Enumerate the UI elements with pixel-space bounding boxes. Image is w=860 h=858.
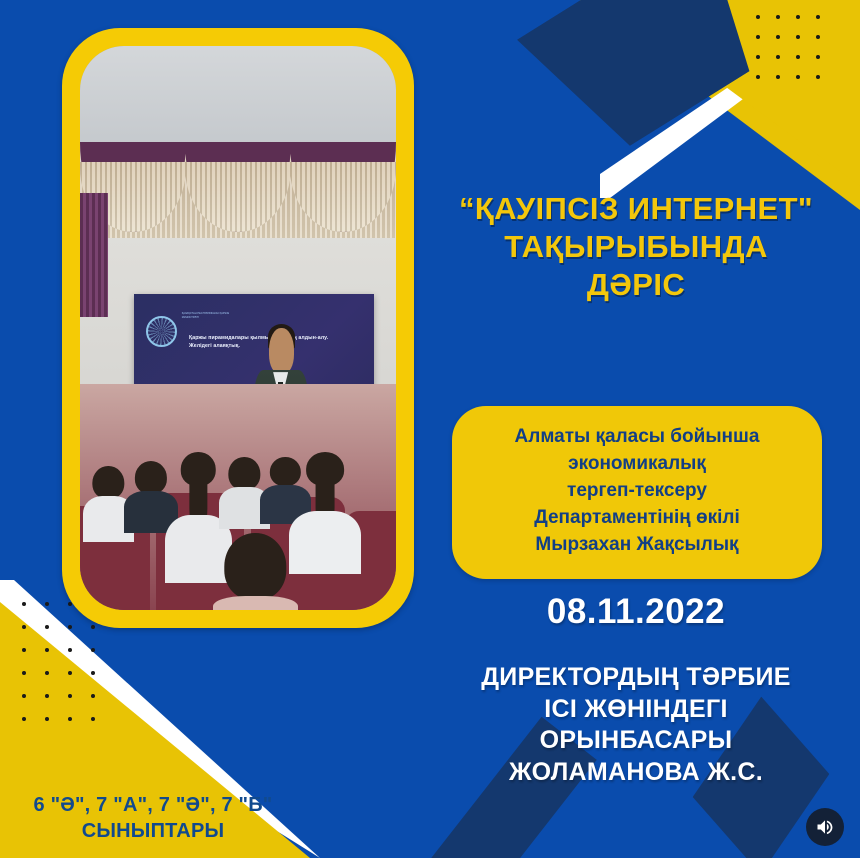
photo-audience bbox=[80, 384, 396, 610]
photo-student-head bbox=[229, 457, 260, 490]
speaker-line-4: Департаментінің өкілі bbox=[468, 505, 806, 532]
photo-curtain-swag bbox=[185, 142, 291, 232]
credit-line-2: ІСІ ЖӨНІНДЕГІ bbox=[412, 694, 860, 726]
event-date: 08.11.2022 bbox=[412, 592, 860, 632]
photo-student-head bbox=[93, 466, 124, 500]
photo-student bbox=[289, 452, 362, 574]
volume-button[interactable] bbox=[806, 808, 844, 846]
photo-student-shirt bbox=[213, 596, 298, 610]
title-line-3: ДӘРІС bbox=[412, 266, 860, 304]
photo-curtain-swag bbox=[290, 142, 396, 232]
photo-student-head bbox=[135, 461, 167, 494]
photo-student-shirt bbox=[289, 511, 362, 574]
class-line-2: СЫНЫПТАРЫ bbox=[8, 818, 298, 844]
ministry-emblem-icon bbox=[146, 316, 177, 347]
poster-canvas: ҚАЗАҚСТАН РЕСПУБЛИКАСЫ ҚАРЖЫ МИНИСТРЛІГІ… bbox=[0, 0, 860, 858]
lecture-hall-photo: ҚАЗАҚСТАН РЕСПУБЛИКАСЫ ҚАРЖЫ МИНИСТРЛІГІ… bbox=[80, 46, 396, 610]
photo-speaker-head bbox=[269, 328, 294, 374]
speaker-line-1: Алматы қаласы бойынша bbox=[468, 424, 806, 451]
speaker-line-3: тергеп-тексеру bbox=[468, 478, 806, 505]
page-title: “ҚАУІПСІЗ ИНТЕРНЕТ" ТАҚЫРЫБЫНДА ДӘРІС bbox=[412, 190, 860, 303]
organizer-credits: ДИРЕКТОРДЫҢ ТӘРБИЕ ІСІ ЖӨНІНДЕГІ ОРЫНБАС… bbox=[412, 662, 860, 788]
credit-line-3: ОРЫНБАСАРЫ bbox=[412, 725, 860, 757]
credit-line-1: ДИРЕКТОРДЫҢ ТӘРБИЕ bbox=[412, 662, 860, 694]
class-line-1: 6 "Ә", 7 "А", 7 "Ә", 7 "Б" bbox=[8, 792, 298, 818]
speaker-line-2: экономикалық bbox=[468, 451, 806, 478]
class-list: 6 "Ә", 7 "А", 7 "Ә", 7 "Б" СЫНЫПТАРЫ bbox=[8, 792, 298, 844]
speaker-line-5: Мырзахан Жақсылық bbox=[468, 532, 806, 559]
title-line-2: ТАҚЫРЫБЫНДА bbox=[412, 228, 860, 266]
volume-icon bbox=[815, 817, 835, 837]
credit-line-4: ЖОЛАМАНОВА Ж.С. bbox=[412, 757, 860, 789]
photo-slide-logo-text: ҚАЗАҚСТАН РЕСПУБЛИКАСЫ ҚАРЖЫ МИНИСТРЛІГІ bbox=[182, 312, 240, 320]
title-line-1: “ҚАУІПСІЗ ИНТЕРНЕТ" bbox=[412, 190, 860, 228]
speaker-info-card: Алматы қаласы бойынша экономикалық терге… bbox=[452, 406, 822, 579]
photo-side-curtain bbox=[80, 193, 108, 317]
photo-student-foreground bbox=[213, 533, 298, 610]
photo-frame: ҚАЗАҚСТАН РЕСПУБЛИКАСЫ ҚАРЖЫ МИНИСТРЛІГІ… bbox=[62, 28, 414, 628]
top-right-dot-grid bbox=[756, 15, 836, 95]
photo-student-head bbox=[225, 533, 286, 600]
